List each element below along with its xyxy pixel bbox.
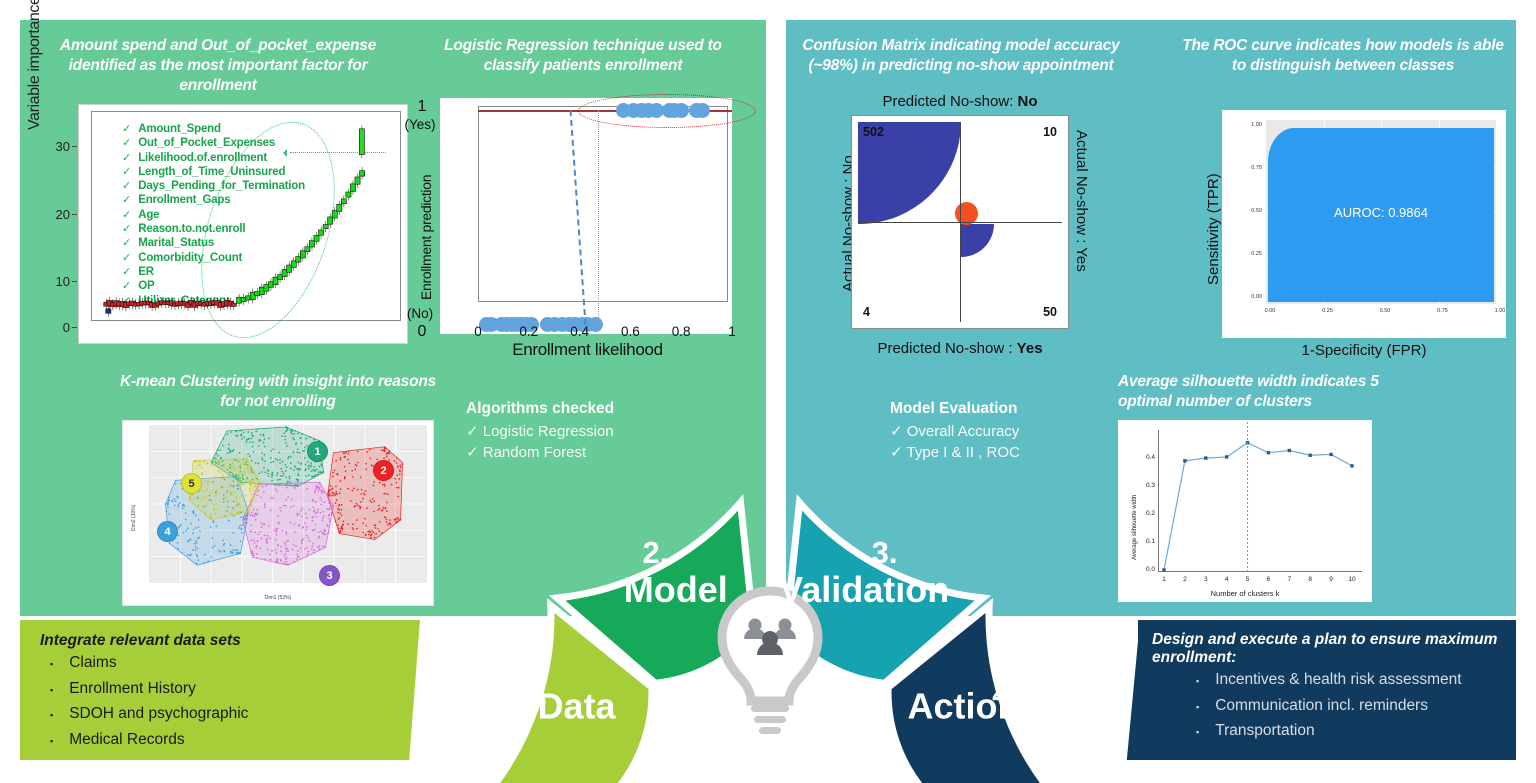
cm-value-tp: 50: [1043, 305, 1057, 319]
heading-variable-importance: Amount spend and Out_of_pocket_expense i…: [28, 36, 408, 95]
bottom-right-item-0: ▪Incentives & health risk assessment: [1152, 667, 1502, 693]
cluster-badge-2: 2: [373, 460, 394, 481]
bottom-bar-action: Design and execute a plan to ensure maxi…: [1138, 620, 1516, 760]
bottom-left-title: Integrate relevant data sets: [40, 632, 398, 650]
chart-confusion-matrix: 502 10 4 50: [852, 116, 1068, 328]
cluster-badge-4: 4: [157, 521, 178, 542]
bottom-left-list: ▪Claims▪Enrollment History▪SDOH and psyc…: [40, 650, 398, 752]
roc-xtick-3: 0.75: [1435, 308, 1451, 314]
bullet-icon: ▪: [50, 657, 53, 672]
cluster-hull-3: [243, 482, 334, 565]
logreg-ytop: 1: [404, 98, 440, 116]
silhouette-xtick-9: 9: [1324, 576, 1338, 583]
kmeans-xlabel: Dim1 (53%): [123, 595, 433, 601]
silhouette-point-k4: [1225, 455, 1228, 458]
roc-auroc-label: AUROC: 0.9864: [1266, 205, 1496, 220]
bullet-icon: ▪: [50, 734, 53, 749]
bottom-bar-data: Integrate relevant data sets ▪Claims▪Enr…: [20, 620, 398, 760]
logreg-xtick-3: 0.6: [614, 324, 646, 339]
arc-step-4-label: Action: [907, 685, 1019, 726]
silhouette-point-k7: [1288, 449, 1291, 452]
chart-variable-importance: ✓Amount_Spend✓Out_of_Pocket_Expenses✓Lik…: [78, 104, 408, 344]
cm-top-label: Predicted No-show: No: [810, 93, 1110, 110]
silhouette-line-series: [1158, 430, 1362, 572]
silhouette-xtick-2: 2: [1178, 576, 1192, 583]
heading-confusion-matrix: Confusion Matrix indicating model accura…: [796, 36, 1126, 76]
roc-ytick-3: 0.25: [1242, 251, 1262, 257]
variable-importance-ylabel: Variable importance: [26, 0, 44, 130]
cm-value-tn: 502: [863, 125, 884, 139]
silhouette-xtick-3: 3: [1199, 576, 1213, 583]
vi-ytick-10: 10: [44, 274, 70, 289]
vi-ytick-0: 0: [44, 320, 70, 335]
bottom-left-item-0: ▪Claims: [40, 650, 398, 676]
cm-bottom-label-value: Yes: [1017, 340, 1043, 357]
silhouette-xtick-7: 7: [1282, 576, 1296, 583]
chart-silhouette-width: 0.40.30.20.10.0 12345678910 Average silh…: [1118, 420, 1372, 602]
cluster-badge-5: 5: [181, 473, 202, 494]
logreg-ytop-sub: (Yes): [400, 117, 440, 132]
arc-step-3-label: Validation: [779, 569, 949, 610]
cm-value-fn: 4: [863, 305, 870, 319]
silhouette-xtick-10: 10: [1345, 576, 1359, 583]
silhouette-point-k3: [1204, 456, 1207, 459]
bottom-left-item-3: ▪Medical Records: [40, 727, 398, 753]
vi-boxplot-series: [92, 112, 400, 320]
vi-ytick-30: 30: [44, 139, 70, 154]
bullet-icon: ▪: [1196, 674, 1199, 689]
lightbulb-people-icon: [722, 591, 818, 734]
silhouette-xlabel: Number of clusters k: [1118, 589, 1372, 598]
chart-logistic-regression: [440, 98, 732, 334]
chart-roc-curve: AUROC: 0.9864 0.000.250.500.751.001.000.…: [1222, 110, 1506, 338]
silhouette-point-k8: [1309, 454, 1312, 457]
logreg-xtick-0: 0: [462, 324, 494, 339]
silhouette-xtick-5: 5: [1241, 576, 1255, 583]
arc-step-2-label: Model: [624, 569, 728, 610]
bullet-icon: ▪: [50, 683, 53, 698]
heading-roc: The ROC curve indicates how models is ab…: [1178, 36, 1508, 76]
logreg-ybottom: 0: [404, 323, 440, 341]
bottom-left-item-3-label: Medical Records: [69, 727, 184, 753]
roc-ytick-0: 1.00: [1242, 122, 1262, 128]
arc-step-2-number: 2.: [643, 535, 669, 570]
bottom-right-item-0-label: Incentives & health risk assessment: [1215, 667, 1461, 693]
logreg-xtick-4: 0.8: [665, 324, 697, 339]
silhouette-xtick-8: 8: [1303, 576, 1317, 583]
silhouette-point-k1: [1162, 568, 1165, 571]
bullet-icon: ▪: [1196, 700, 1199, 715]
silhouette-ytick-2: 0.2: [1135, 510, 1155, 517]
silhouette-point-k10: [1350, 464, 1353, 467]
cm-bottom-label: Predicted No-show : Yes: [810, 340, 1110, 357]
bottom-left-item-1: ▪Enrollment History: [40, 676, 398, 702]
cluster-hull-2: [328, 447, 403, 540]
kmeans-ylabel: Dim2 (30%): [131, 505, 137, 531]
cm-bottom-label-prefix: Predicted No-show :: [877, 340, 1016, 357]
bottom-right-list: ▪Incentives & health risk assessment▪Com…: [1152, 667, 1502, 744]
bottom-left-item-0-label: Claims: [69, 650, 116, 676]
kmeans-scatter: [149, 425, 427, 583]
arc-step-3-number: 3.: [872, 535, 898, 570]
bottom-right-item-2-label: Transportation: [1215, 718, 1314, 744]
logreg-xtick-1: 0.2: [513, 324, 545, 339]
logreg-xtick-2: 0.4: [564, 324, 596, 339]
cm-value-fp: 10: [1043, 125, 1057, 139]
roc-ytick-4: 0.00: [1242, 294, 1262, 300]
silhouette-ytick-0: 0.4: [1135, 454, 1155, 461]
cm-quadrant-tp: [961, 224, 994, 257]
silhouette-ytick-4: 0.0: [1135, 566, 1155, 573]
logreg-ybottom-sub: (No): [400, 306, 440, 321]
silhouette-xtick-6: 6: [1261, 576, 1275, 583]
silhouette-xtick-1: 1: [1157, 576, 1171, 583]
heading-silhouette: Average silhouette width indicates 5 opt…: [1118, 372, 1408, 412]
roc-ytick-1: 0.75: [1242, 165, 1262, 171]
bottom-left-item-1-label: Enrollment History: [69, 676, 196, 702]
heading-logistic-regression: Logistic Regression technique used to cl…: [418, 36, 748, 76]
roc-xtick-0: 0.00: [1262, 308, 1278, 314]
bullet-icon: ▪: [50, 708, 53, 723]
silhouette-point-k6: [1267, 451, 1270, 454]
bottom-left-item-2: ▪SDOH and psychographic: [40, 701, 398, 727]
roc-xtick-2: 0.50: [1377, 308, 1393, 314]
vi-ytick-20: 20: [44, 207, 70, 222]
cluster-badge-1: 1: [307, 441, 328, 462]
silhouette-point-k9: [1329, 453, 1332, 456]
chart-kmeans-clustering: 1 2 3 4 5 Dim1 (53%) Dim2 (30%): [122, 420, 434, 606]
silhouette-ytick-3: 0.1: [1135, 538, 1155, 545]
bottom-right-title: Design and execute a plan to ensure maxi…: [1152, 631, 1502, 667]
heading-kmeans: K-mean Clustering with insight into reas…: [118, 372, 438, 412]
process-arc-diagram: 1.Data2.Model3.Validation4.Action: [440, 404, 1100, 783]
silhouette-ylabel: Average silhouette width: [1132, 495, 1138, 560]
logreg-highlight-ellipse: [578, 94, 756, 128]
bottom-right-item-1: ▪Communication incl. reminders: [1152, 693, 1502, 719]
bottom-right-item-1-label: Communication incl. reminders: [1215, 693, 1428, 719]
silhouette-point-k2: [1183, 459, 1186, 462]
roc-xtick-4: 1.00: [1492, 308, 1508, 314]
cluster-badge-3: 3: [319, 565, 340, 586]
logreg-threshold-line: [598, 110, 599, 326]
silhouette-xtick-4: 4: [1220, 576, 1234, 583]
bullet-icon: ▪: [1196, 725, 1199, 740]
infographic-canvas: Amount spend and Out_of_pocket_expense i…: [0, 0, 1536, 783]
bottom-left-item-2-label: SDOH and psychographic: [69, 701, 248, 727]
logreg-xtick-5: 1: [716, 324, 748, 339]
logreg-xlabel: Enrollment likelihood: [440, 340, 735, 360]
roc-xlabel: 1-Specificity (FPR): [1222, 342, 1506, 359]
silhouette-ytick-1: 0.3: [1135, 482, 1155, 489]
cm-right-label: Actual No-show : Yes: [1073, 130, 1090, 272]
roc-ytick-2: 0.50: [1242, 208, 1262, 214]
cm-top-label-value: No: [1018, 93, 1038, 110]
cm-top-label-prefix: Predicted No-show:: [882, 93, 1017, 110]
bottom-right-item-2: ▪Transportation: [1152, 718, 1502, 744]
arc-step-1-label: Data: [538, 685, 617, 726]
roc-xtick-1: 0.25: [1320, 308, 1336, 314]
logreg-ylabel: Enrollment prediction: [418, 175, 434, 300]
roc-ylabel: Sensitivity (TPR): [1205, 173, 1222, 285]
